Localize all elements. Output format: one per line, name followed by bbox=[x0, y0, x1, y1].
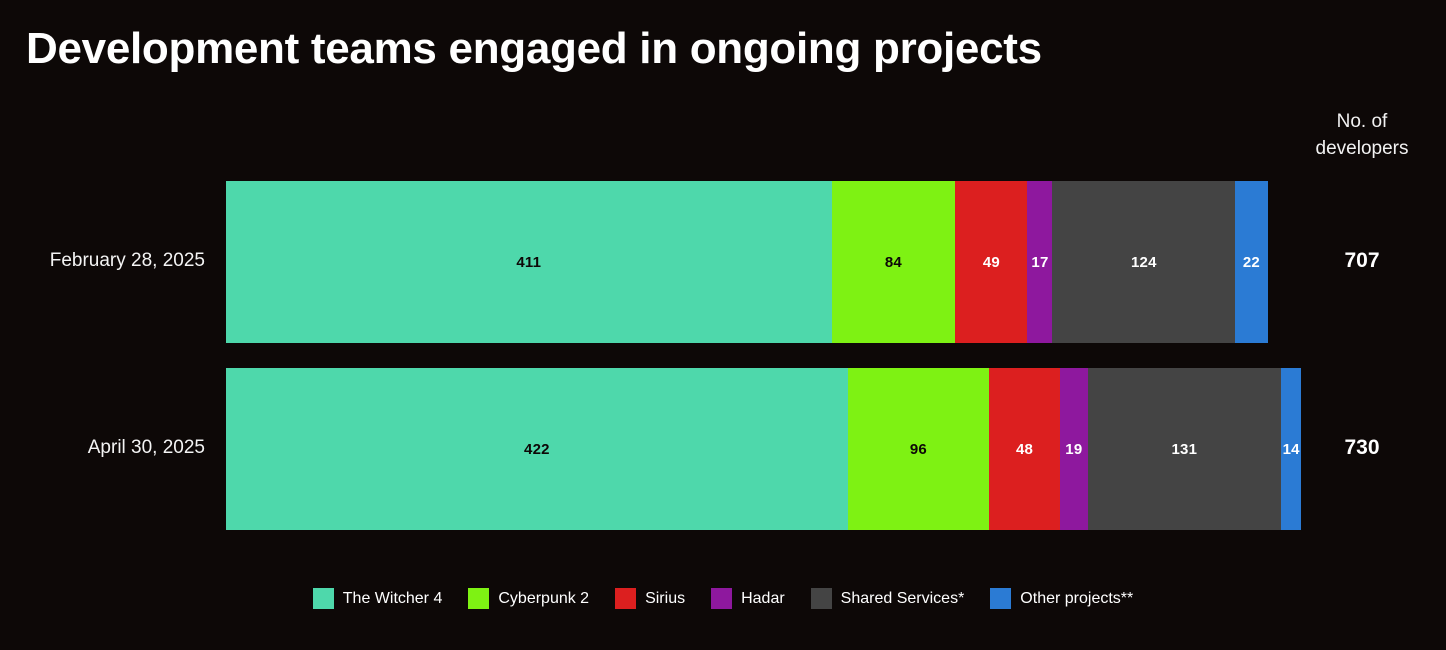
bar-segment-value: 411 bbox=[516, 254, 541, 271]
legend-swatch-icon bbox=[711, 588, 732, 609]
legend-label: Cyberpunk 2 bbox=[498, 590, 589, 608]
row-total: 707 bbox=[1286, 249, 1438, 273]
chart-legend: The Witcher 4Cyberpunk 2SiriusHadarShare… bbox=[0, 588, 1446, 609]
legend-swatch-icon bbox=[313, 588, 334, 609]
bar-segment-value: 96 bbox=[910, 441, 927, 458]
bar-segment[interactable]: 17 bbox=[1027, 181, 1052, 343]
bar-segment-value: 124 bbox=[1131, 254, 1157, 271]
row-total: 730 bbox=[1286, 436, 1438, 460]
bar-segment-value: 422 bbox=[524, 441, 550, 458]
stacked-bar: 41184491712422 bbox=[226, 181, 1268, 343]
legend-item[interactable]: Sirius bbox=[615, 588, 685, 609]
bar-segment-value: 48 bbox=[1016, 441, 1033, 458]
bar-segment[interactable]: 411 bbox=[226, 181, 832, 343]
stacked-bar-plot: February 28, 202541184491712422707April … bbox=[0, 0, 1446, 650]
legend-label: Hadar bbox=[741, 590, 785, 608]
legend-item[interactable]: The Witcher 4 bbox=[313, 588, 443, 609]
bar-segment[interactable]: 22 bbox=[1235, 181, 1267, 343]
bar-segment-value: 49 bbox=[983, 254, 1000, 271]
legend-label: The Witcher 4 bbox=[343, 590, 443, 608]
legend-swatch-icon bbox=[615, 588, 636, 609]
row-label: February 28, 2025 bbox=[5, 250, 205, 272]
chart-canvas: Development teams engaged in ongoing pro… bbox=[0, 0, 1446, 650]
bar-segment[interactable]: 131 bbox=[1088, 368, 1281, 530]
bar-segment[interactable]: 19 bbox=[1060, 368, 1088, 530]
legend-swatch-icon bbox=[468, 588, 489, 609]
bar-segment[interactable]: 96 bbox=[848, 368, 989, 530]
bar-segment[interactable]: 48 bbox=[989, 368, 1060, 530]
legend-label: Sirius bbox=[645, 590, 685, 608]
legend-label: Other projects** bbox=[1020, 590, 1133, 608]
bar-segment-value: 22 bbox=[1243, 254, 1260, 271]
legend-item[interactable]: Cyberpunk 2 bbox=[468, 588, 589, 609]
bar-segment-value: 84 bbox=[885, 254, 902, 271]
legend-item[interactable]: Other projects** bbox=[990, 588, 1133, 609]
bar-segment[interactable]: 84 bbox=[832, 181, 956, 343]
bar-segment-value: 17 bbox=[1031, 254, 1048, 271]
bar-segment[interactable]: 124 bbox=[1052, 181, 1235, 343]
legend-item[interactable]: Shared Services* bbox=[811, 588, 965, 609]
row-label: April 30, 2025 bbox=[5, 437, 205, 459]
legend-item[interactable]: Hadar bbox=[711, 588, 785, 609]
bar-segment[interactable]: 422 bbox=[226, 368, 848, 530]
stacked-bar: 42296481913114 bbox=[226, 368, 1301, 530]
legend-label: Shared Services* bbox=[841, 590, 965, 608]
bar-segment-value: 19 bbox=[1065, 441, 1082, 458]
bar-segment-value: 131 bbox=[1172, 441, 1198, 458]
bar-segment[interactable]: 49 bbox=[955, 181, 1027, 343]
legend-swatch-icon bbox=[811, 588, 832, 609]
legend-swatch-icon bbox=[990, 588, 1011, 609]
